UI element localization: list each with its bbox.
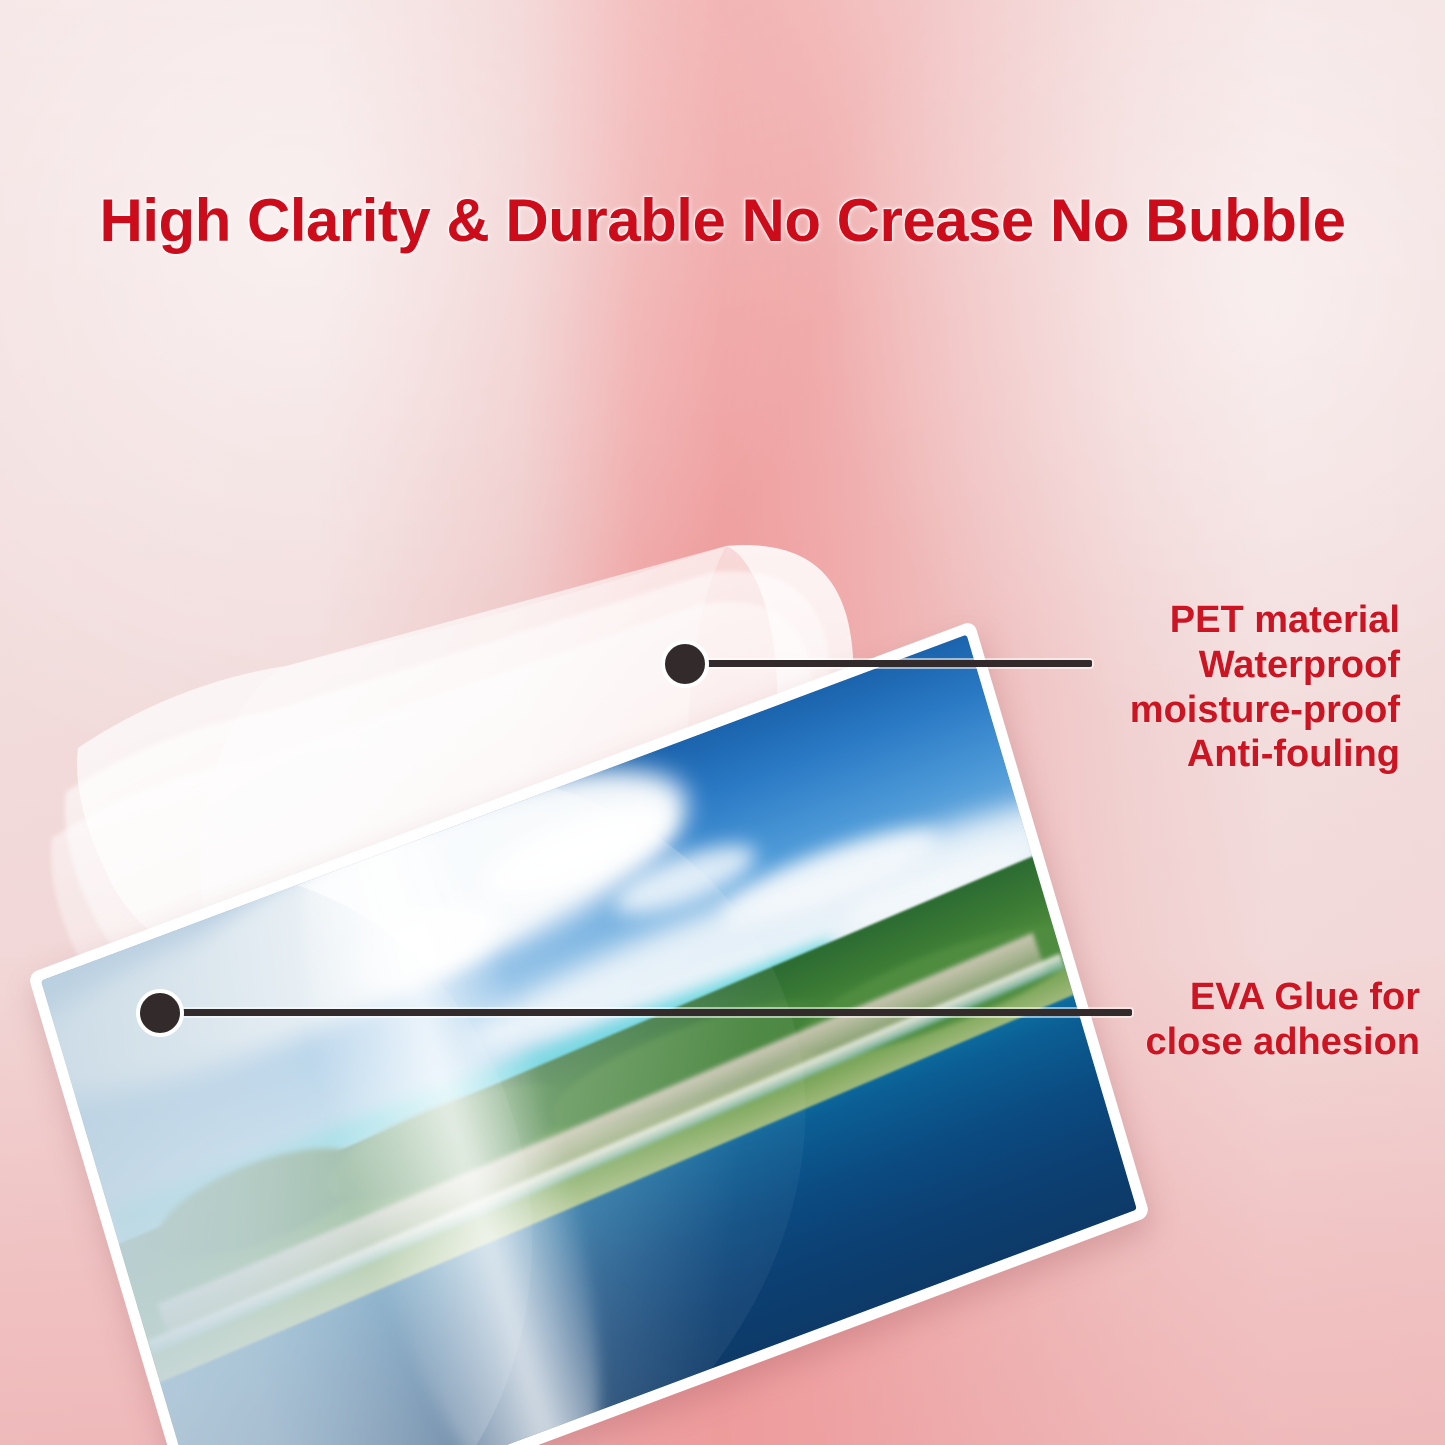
callout-line: EVA Glue for — [1145, 975, 1420, 1020]
infographic-canvas: High Clarity & Durable No Crease No Bubb… — [0, 0, 1445, 1445]
callout-line: Waterproof — [1130, 643, 1400, 688]
callout-line: Anti-fouling — [1130, 732, 1400, 777]
callout-line: moisture-proof — [1130, 688, 1400, 733]
callout-line: close adhesion — [1145, 1020, 1420, 1065]
callout-dot-eva-glue — [136, 989, 184, 1037]
leader-line-pet-material — [700, 660, 1092, 667]
callout-label-pet-material: PET material Waterproof moisture-proof A… — [1130, 598, 1400, 777]
callout-line: PET material — [1130, 598, 1400, 643]
callout-dot-pet-material — [661, 640, 709, 688]
leader-line-eva-glue — [176, 1009, 1132, 1016]
callout-label-eva-glue: EVA Glue for close adhesion — [1145, 975, 1420, 1065]
